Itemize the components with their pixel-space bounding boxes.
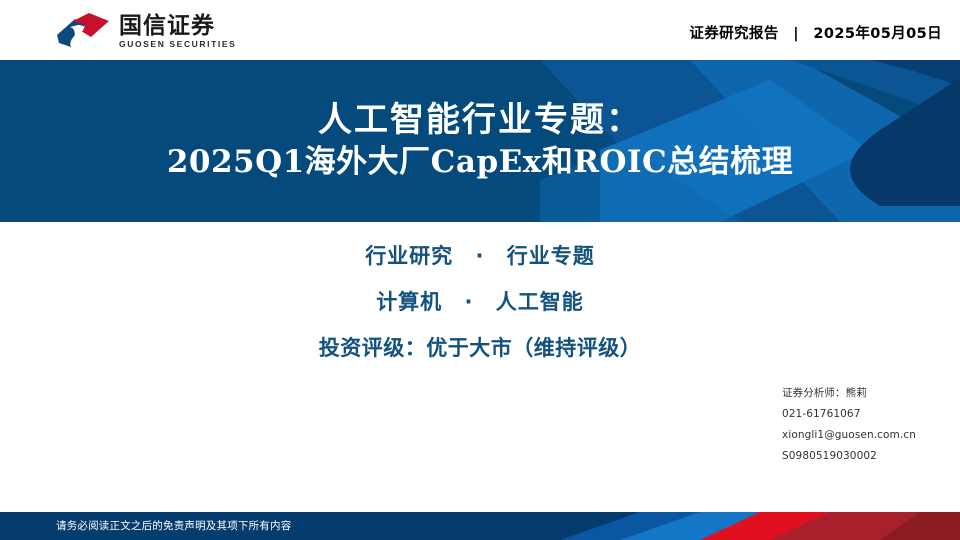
footer-disclaimer: 请务必阅读正文之后的免责声明及其项下所有内容 bbox=[56, 512, 291, 540]
research-category-line: 行业研究 · 行业专题 bbox=[0, 240, 960, 270]
brand-name-cn: 国信证券 bbox=[119, 14, 236, 38]
brand-logo: 国信证券 GUOSEN SECURITIES bbox=[55, 12, 236, 50]
page-footer: 请务必阅读正文之后的免责声明及其项下所有内容 bbox=[0, 512, 960, 540]
page-title-line-2: 2025Q1海外大厂CapEx和ROIC总结梳理 bbox=[167, 143, 793, 182]
brand-name-en: GUOSEN SECURITIES bbox=[119, 40, 236, 49]
analyst-license-number: S0980519030002 bbox=[782, 446, 957, 467]
brand-wordmark: 国信证券 GUOSEN SECURITIES bbox=[119, 14, 236, 49]
analyst-email[interactable]: xiongli1@guosen.com.cn bbox=[782, 425, 957, 446]
sector-primary: 计算机 bbox=[376, 290, 442, 314]
report-meta-block: 行业研究 · 行业专题 计算机 · 人工智能 投资评级：优于大市（维持评级） bbox=[0, 240, 960, 362]
guosen-logo-icon bbox=[55, 13, 111, 49]
category-separator-dot-1: · bbox=[462, 244, 499, 268]
sector-secondary: 人工智能 bbox=[496, 290, 584, 314]
analyst-info-block: 证券分析师：熊莉 021-61761067 xiongli1@guosen.co… bbox=[782, 383, 957, 467]
category-separator-dot-2: · bbox=[451, 290, 488, 314]
header-meta: 证券研究报告 | 2025年05月05日 bbox=[689, 22, 942, 43]
analyst-name: 证券分析师：熊莉 bbox=[782, 383, 957, 404]
report-date: 2025年05月05日 bbox=[813, 26, 942, 42]
banner-title-block: 人工智能行业专题： 2025Q1海外大厂CapEx和ROIC总结梳理 bbox=[0, 60, 960, 222]
analyst-phone: 021-61761067 bbox=[782, 404, 957, 425]
report-cover-page: 国信证券 GUOSEN SECURITIES 证券研究报告 | 2025年05月… bbox=[0, 0, 960, 540]
report-type-label: 证券研究报告 bbox=[689, 26, 778, 42]
page-title-line-1: 人工智能行业专题： bbox=[318, 100, 642, 141]
page-header: 国信证券 GUOSEN SECURITIES 证券研究报告 | 2025年05月… bbox=[0, 0, 960, 60]
title-banner: 人工智能行业专题： 2025Q1海外大厂CapEx和ROIC总结梳理 bbox=[0, 60, 960, 222]
sector-line: 计算机 · 人工智能 bbox=[0, 286, 960, 316]
research-category-secondary: 行业专题 bbox=[507, 244, 595, 268]
research-category-primary: 行业研究 bbox=[365, 244, 453, 268]
header-separator: | bbox=[784, 26, 808, 42]
investment-rating-line: 投资评级：优于大市（维持评级） bbox=[0, 332, 960, 362]
